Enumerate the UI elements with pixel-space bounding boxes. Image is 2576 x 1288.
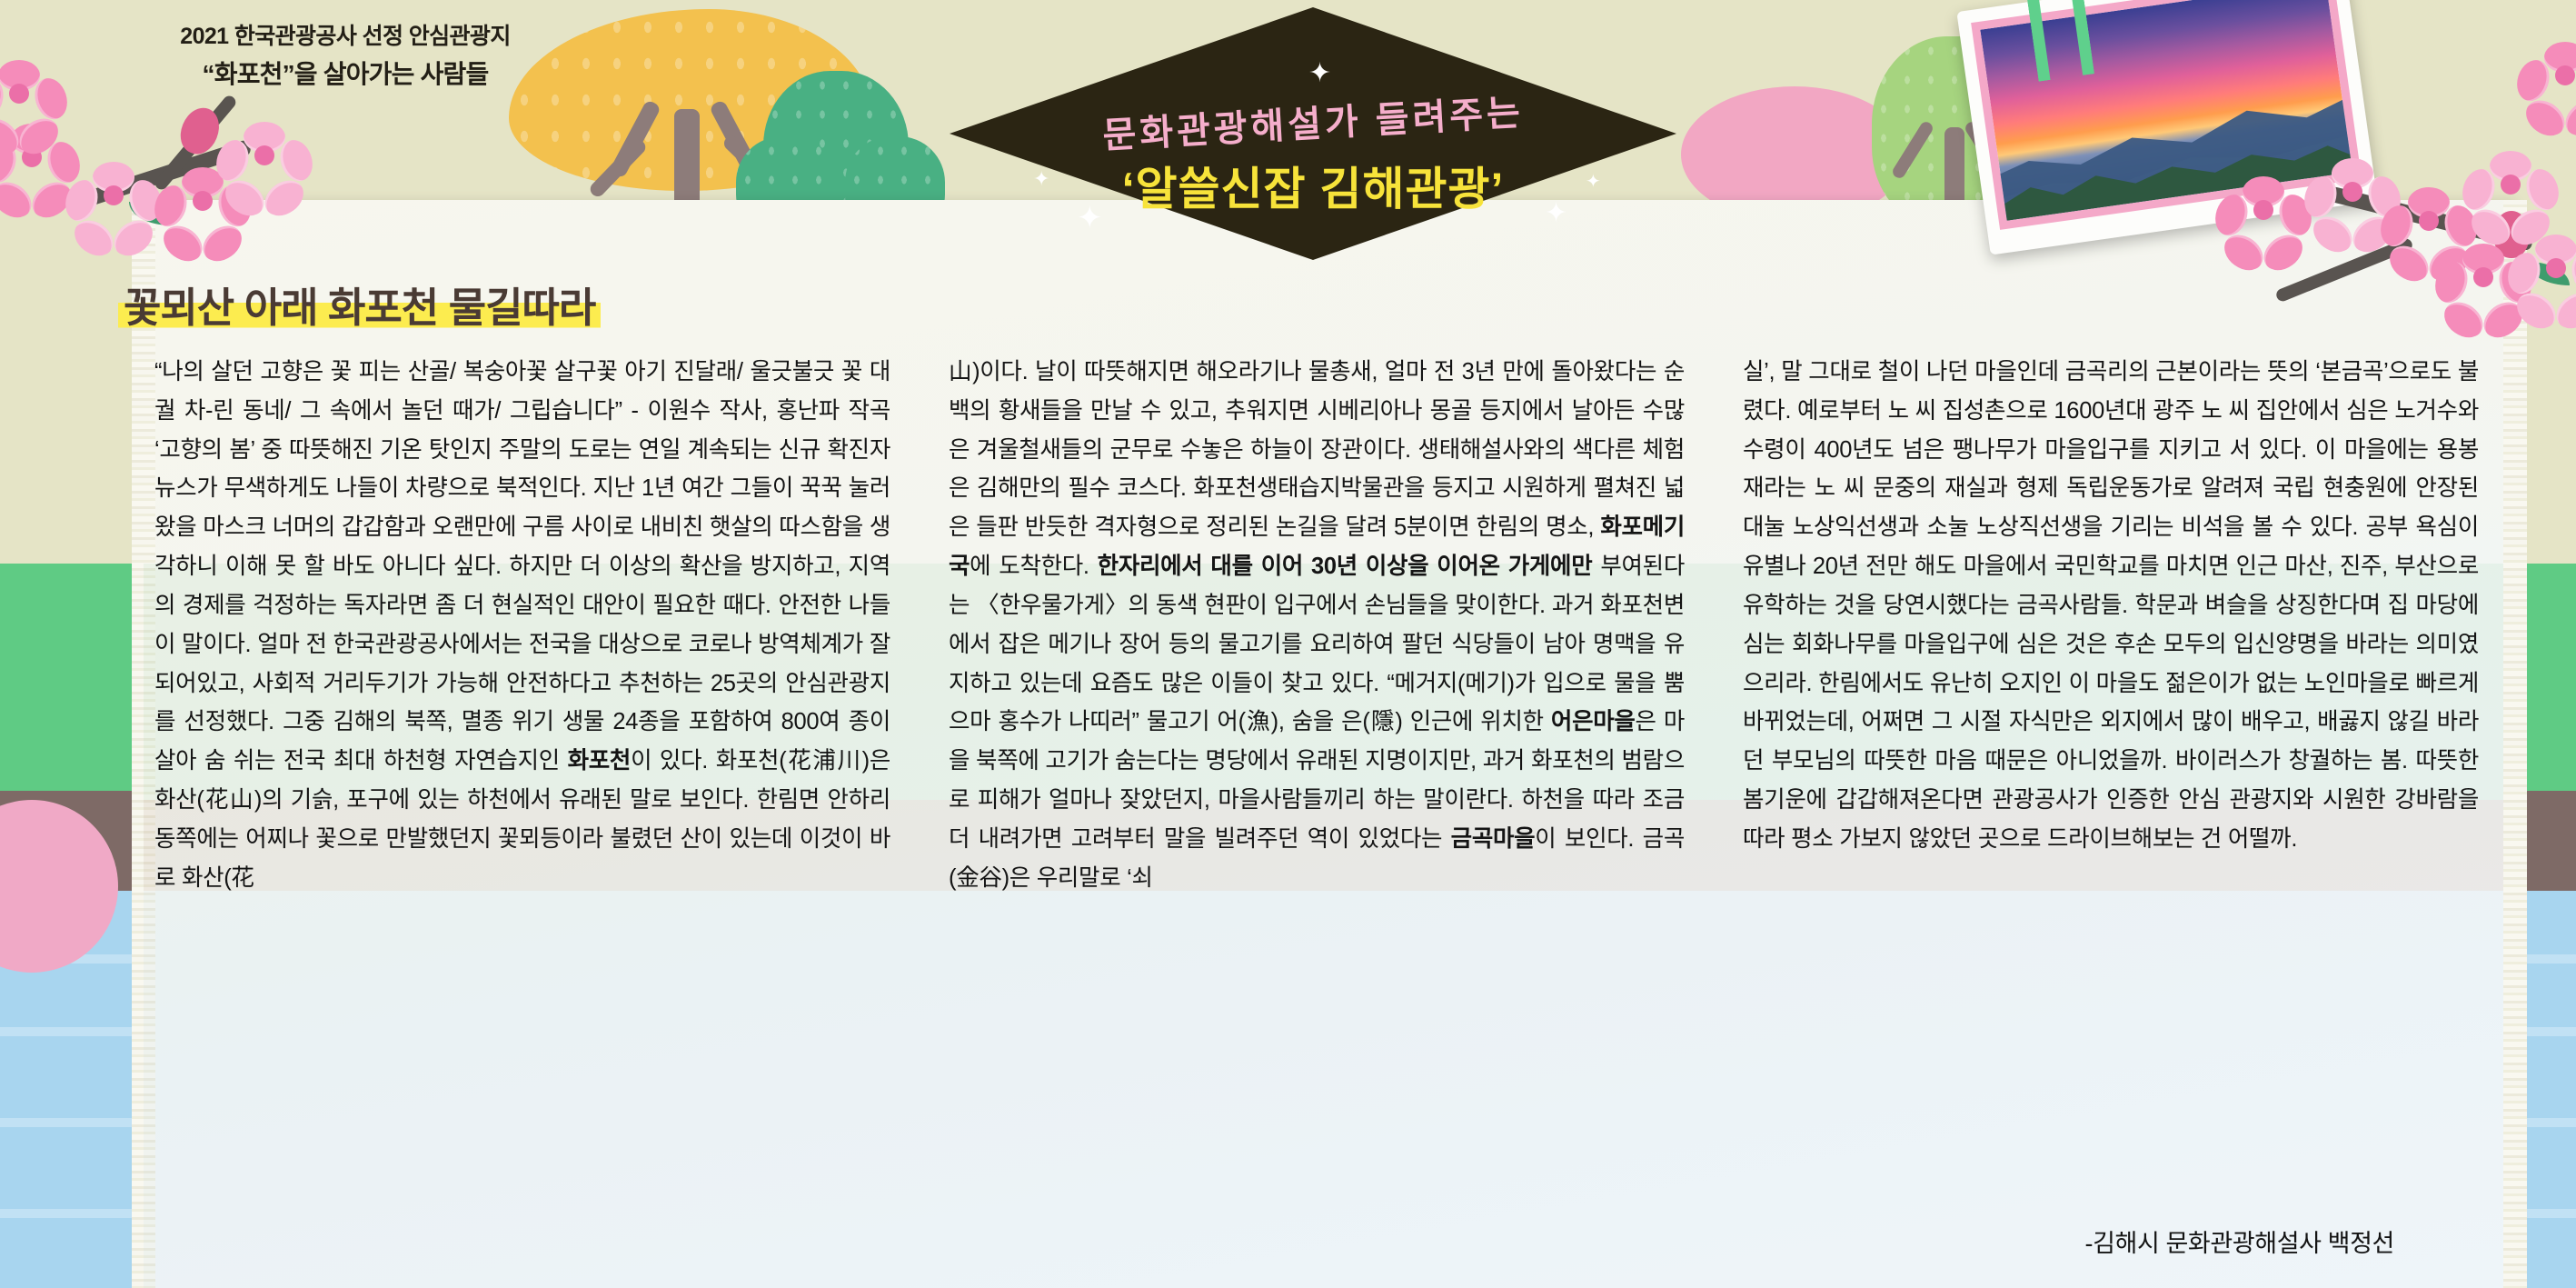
column-3-text: 실’, 말 그대로 철이 나던 마을인데 금곡리의 근본이라는 뜻의 ‘본금곡’…: [1743, 353, 2479, 859]
column-2-part-1: 山)이다. 날이 따뜻해지면 해오라기나 물총새, 얼마 전 3년 만에 돌아왔…: [949, 359, 1685, 540]
column-2-text: 山)이다. 날이 따뜻해지면 해오라기나 물총새, 얼마 전 3년 만에 돌아왔…: [949, 353, 1685, 898]
cherry-blossom: [0, 55, 58, 133]
column-2-bold-3: 어은마을: [1551, 709, 1636, 734]
cherry-blossom: [2517, 229, 2576, 307]
column-2-bold-4: 금곡마을: [1451, 826, 1536, 852]
article-column-3: 실’, 말 그대로 철이 나던 마을인데 금곡리의 근본이라는 뜻의 ‘본금곡’…: [1743, 353, 2479, 1253]
cherry-blossom: [2224, 171, 2302, 249]
cherry-blossom: [225, 116, 303, 195]
column-2-bold-2: 한자리에서 대를 이어 30년 이상을 이어온 가게에만: [1098, 554, 1593, 579]
article-column-2: 山)이다. 날이 따뜻해지면 해오라기나 물총새, 얼마 전 3년 만에 돌아왔…: [949, 353, 1685, 1253]
photo-image: [1971, 0, 2362, 230]
cherry-blossom: [2313, 153, 2392, 231]
column-2-part-2: 에 도착한다.: [970, 554, 1098, 579]
article-column-1: “나의 살던 고향은 꽃 피는 산골/ 복숭아꽃 살구꽃 아기 진달래/ 울긋불…: [154, 353, 890, 1253]
cherry-blossom: [2472, 145, 2550, 224]
column-1-bold-1: 화포천: [568, 748, 631, 774]
kicker-line-2: “화포천”을 살아가는 사람들: [0, 56, 691, 94]
column-2-part-3: 부여된다는 〈한우물가게〉의 동색 현판이 입구에서 손님들을 맞이한다. 과거…: [949, 554, 1685, 734]
cherry-blossom: [75, 156, 153, 235]
column-1-text: “나의 살던 고향은 꽃 피는 산골/ 복숭아꽃 살구꽃 아기 진달래/ 울긋불…: [154, 353, 890, 898]
article-headline: 꽃뫼산 아래 화포천 물길따라: [118, 273, 601, 335]
banner-line-2: ‘알쓸신잡 김해관광’: [950, 153, 1676, 218]
diamond-banner: ✦ ✦ ✦ ✦ ✦ 문화관광해설가 들려주는 ‘알쓸신잡 김해관광’: [950, 7, 1676, 260]
sparkle-icon: ✦: [1308, 60, 1331, 87]
cherry-blossom: [2526, 36, 2576, 115]
article-body: “나의 살던 고향은 꽃 피는 산골/ 복숭아꽃 살구꽃 아기 진달래/ 울긋불…: [154, 353, 2481, 1253]
column-1-part-1: “나의 살던 고향은 꽃 피는 산골/ 복숭아꽃 살구꽃 아기 진달래/ 울긋불…: [154, 359, 890, 774]
kicker-line-1: 2021 한국관광공사 선정 안심관광지: [0, 20, 691, 53]
publication-kicker: 2021 한국관광공사 선정 안심관광지 “화포천”을 살아가는 사람들: [0, 20, 691, 94]
article-signature: -김해시 문화관광해설사 백정선: [2084, 1223, 2394, 1259]
